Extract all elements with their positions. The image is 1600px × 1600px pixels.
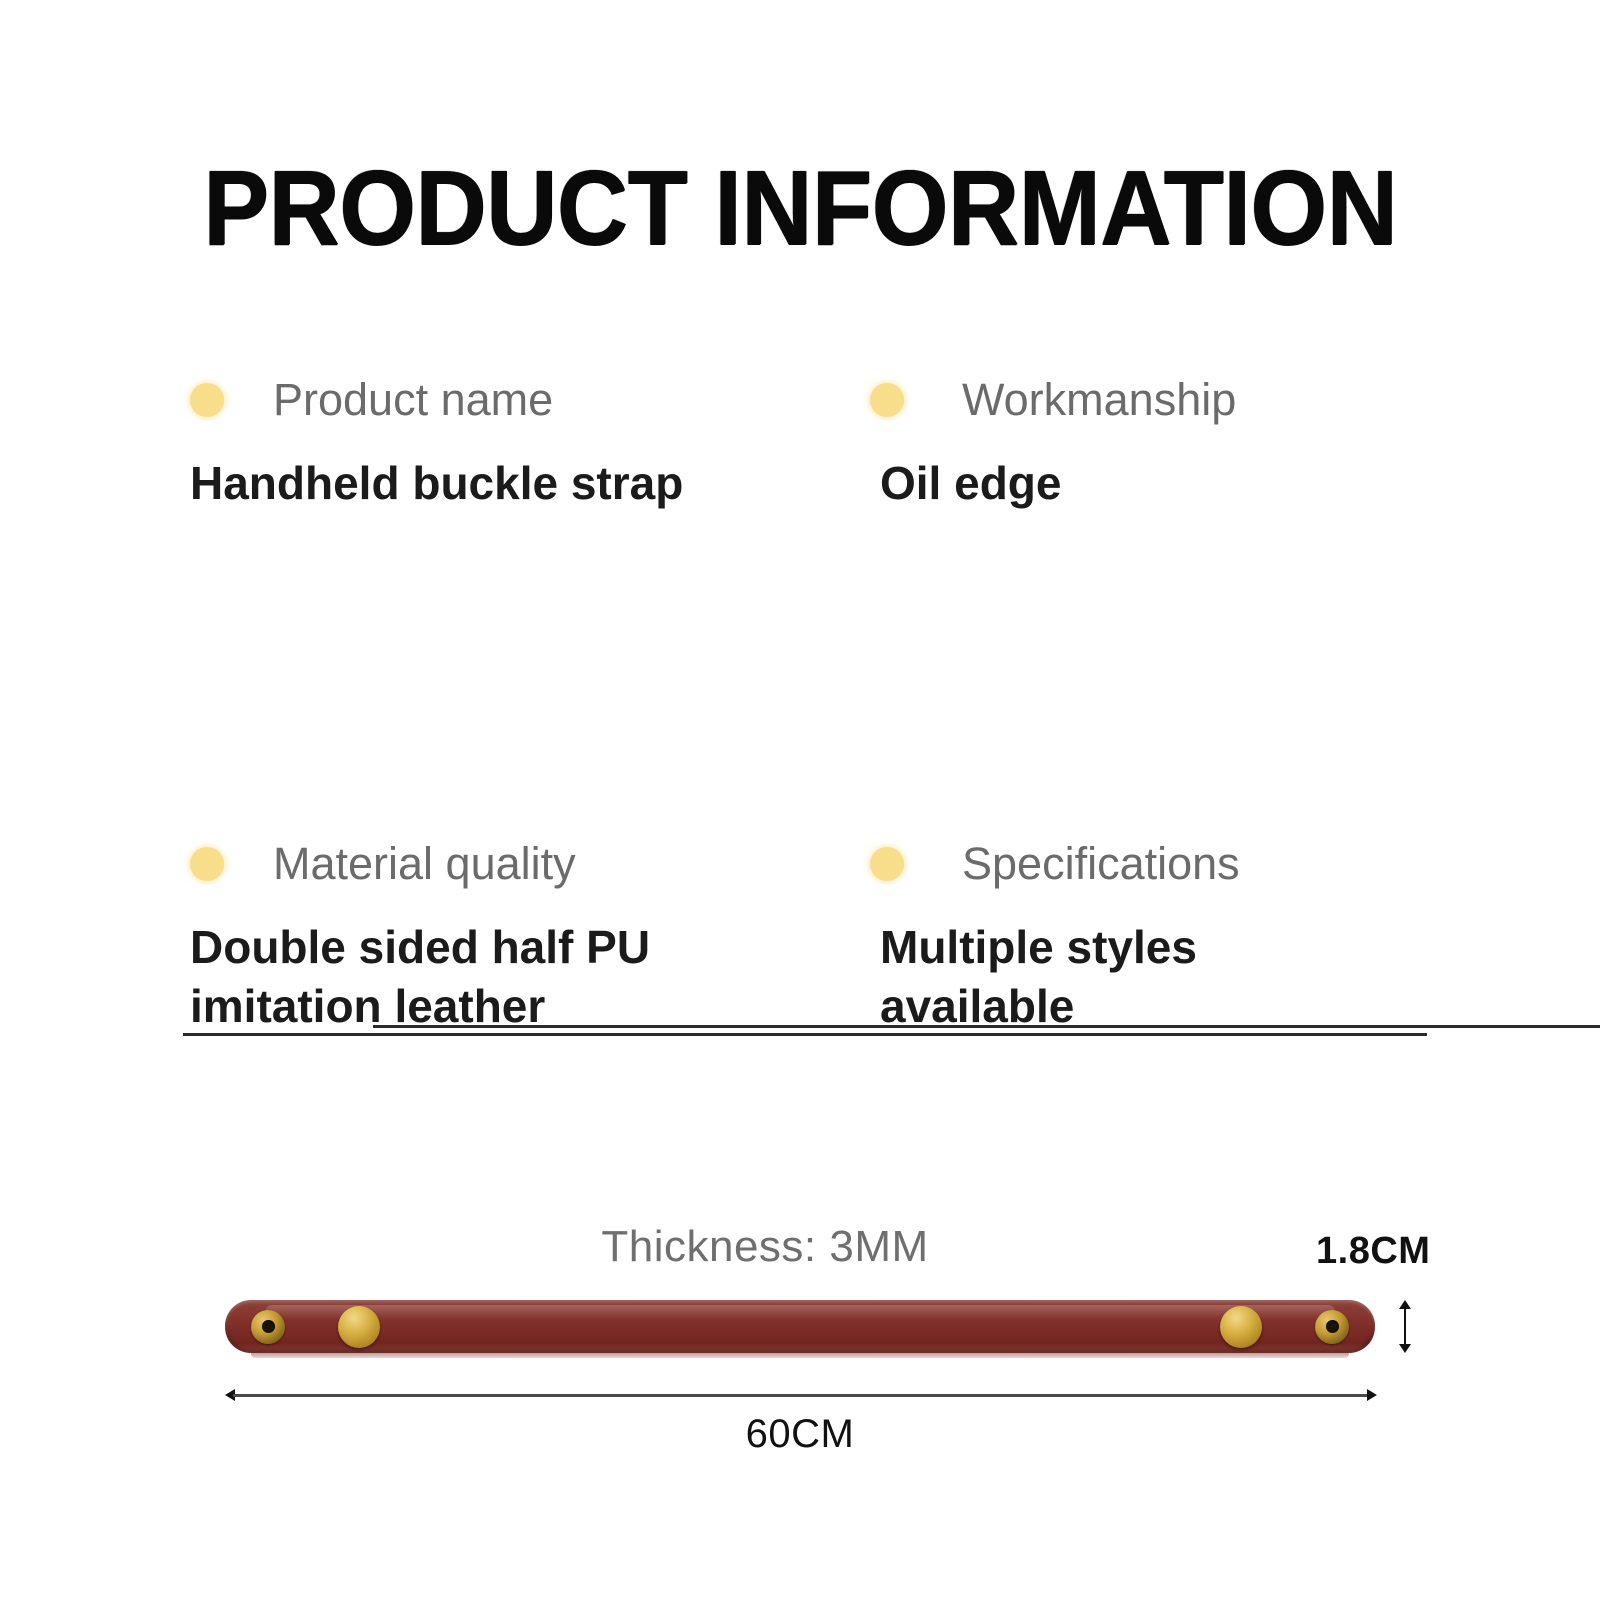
section-divider [373,1025,1600,1028]
product-information-page: PRODUCT INFORMATION Product name Handhel… [0,0,1600,1600]
page-title: PRODUCT INFORMATION [203,155,1397,261]
spec-header: Material quality [190,836,850,892]
spec-cell-product-name: Product name Handheld buckle strap [190,372,870,514]
spec-label: Workmanship [962,375,1236,425]
dimension-line [233,1394,1369,1397]
rivet-icon [1220,1306,1262,1348]
spec-label: Specifications [962,839,1240,889]
rivet-icon [338,1306,380,1348]
spec-cell-workmanship: Workmanship Oil edge [870,372,1430,514]
spec-value: Oil edge [880,454,1350,514]
spec-value: Double sided half PU imitation leather [190,918,790,1036]
spec-grid: Product name Handheld buckle strap Workm… [190,372,1430,1036]
length-dimension-arrow [225,1388,1377,1402]
section-divider [183,1033,1427,1036]
bullet-dot-icon [870,847,904,881]
product-diagram: Thickness: 3MM 1.8CM 60CM [0,1200,1600,1460]
bullet-dot-icon [190,383,224,417]
spec-cell-specifications: Specifications Multiple styles available [870,836,1430,1036]
strap-highlight [265,1305,1335,1319]
spec-header: Product name [190,372,850,428]
spec-value: Handheld buckle strap [190,454,790,514]
spec-cell-material-quality: Material quality Double sided half PU im… [190,836,870,1036]
width-dimension-arrow [1398,1300,1412,1353]
width-label: 1.8CM [1316,1230,1430,1273]
bullet-dot-icon [870,383,904,417]
spec-row: Material quality Double sided half PU im… [190,836,1430,1036]
length-annotation: 60CM [0,1412,1600,1457]
arrow-head-down-icon [1399,1344,1411,1353]
arrow-head-right-icon [1367,1389,1377,1401]
spec-value: Multiple styles available [880,918,1350,1036]
spec-row: Product name Handheld buckle strap Workm… [190,372,1430,514]
eyelet-icon [1315,1310,1349,1344]
spec-header: Workmanship [870,372,1430,428]
spec-label: Material quality [273,839,576,889]
leather-strap-image [225,1300,1375,1353]
dimension-line [1404,1306,1406,1347]
bullet-dot-icon [190,847,224,881]
spec-header: Specifications [870,836,1430,892]
page-title-container: PRODUCT INFORMATION [0,155,1600,261]
thickness-label: Thickness: 3MM [601,1222,928,1272]
eyelet-icon [251,1310,285,1344]
length-label: 60CM [746,1412,855,1457]
spec-label: Product name [273,375,553,425]
